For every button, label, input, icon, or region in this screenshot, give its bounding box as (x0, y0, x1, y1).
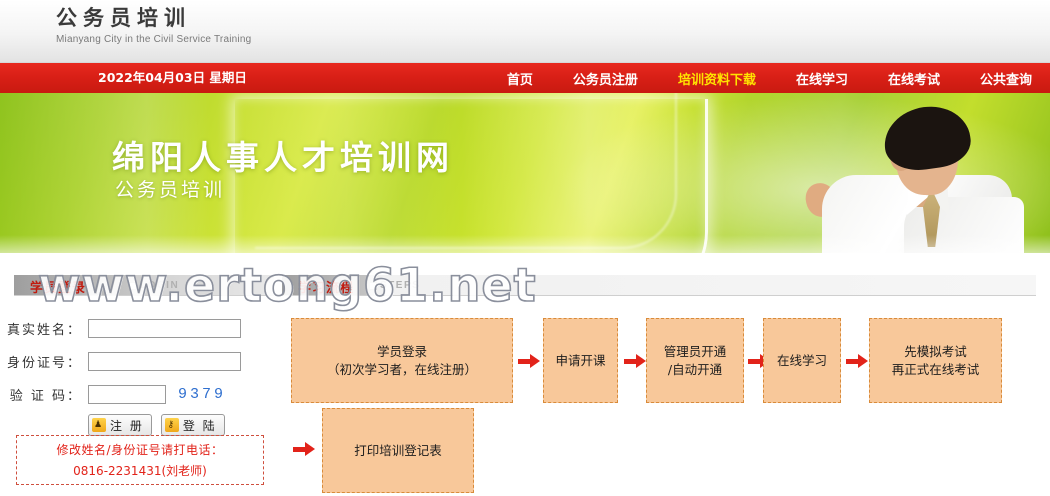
banner-bottom-fade (0, 235, 1050, 253)
steps-section-title: 学习流程 (298, 277, 354, 296)
arrow-icon (624, 354, 646, 368)
login-section-title: 学员登录 (30, 277, 86, 296)
banner-person-photo (772, 93, 1032, 253)
arrow-icon (518, 354, 540, 368)
steps-section-title-en: STEPS (380, 280, 420, 291)
nav-item-home[interactable]: 首页 (507, 69, 533, 88)
flow-box-print-form[interactable]: 打印培训登记表 (322, 408, 474, 493)
main-navigation: 2022年04月03日 星期日 首页 公务员注册 培训资料下载 在线学习 在线考… (0, 63, 1050, 93)
hero-banner: 绵阳人事人才培训网 公务员培训 (0, 93, 1050, 253)
flow-box-line: （初次学习者，在线注册） (327, 361, 477, 379)
flow-box-line: 申请开课 (555, 352, 605, 370)
flow-box-line: 在线学习 (777, 352, 827, 370)
site-title-cn: 公务员培训 (56, 5, 251, 31)
flow-box-student-login[interactable]: 学员登录 （初次学习者，在线注册） (291, 318, 513, 403)
nav-item-public-query[interactable]: 公共查询 (980, 69, 1032, 88)
nav-item-online-study[interactable]: 在线学习 (796, 69, 848, 88)
banner-title: 绵阳人事人才培训网 (112, 131, 454, 179)
login-section-title-en: LOGIN (140, 280, 179, 291)
flow-box-line: 再正式在线考试 (892, 361, 980, 379)
arrow-icon (846, 354, 868, 368)
flow-box-exam[interactable]: 先模拟考试 再正式在线考试 (869, 318, 1002, 403)
steps-bullet-icon (369, 282, 377, 290)
flow-box-line: 先模拟考试 (904, 343, 967, 361)
arrow-icon (293, 442, 315, 456)
nav-item-downloads[interactable]: 培训资料下载 (678, 69, 756, 88)
site-header: 公务员培训 Mianyang City in the Civil Service… (0, 0, 1050, 63)
section-header-bars: 学员登录 LOGIN 学习流程 STEPS (0, 275, 1050, 303)
flow-box-online-study[interactable]: 在线学习 (763, 318, 841, 403)
flow-box-line: 打印培训登记表 (354, 442, 442, 460)
nav-item-register[interactable]: 公务员注册 (573, 69, 638, 88)
brand-block: 公务员培训 Mianyang City in the Civil Service… (56, 5, 251, 45)
flow-box-line: 管理员开通 (664, 343, 727, 361)
flow-box-line: /自动开通 (668, 361, 722, 379)
nav-menu: 首页 公务员注册 培训资料下载 在线学习 在线考试 公共查询 (507, 63, 1032, 93)
nav-item-online-exam[interactable]: 在线考试 (888, 69, 940, 88)
flow-box-line: 学员登录 (377, 343, 427, 361)
banner-subtitle: 公务员培训 (115, 175, 225, 202)
flow-box-apply-course[interactable]: 申请开课 (543, 318, 618, 403)
study-steps-flowchart: 学员登录 （初次学习者，在线注册） 申请开课 管理员开通 /自动开通 在线学习 … (0, 318, 1050, 496)
current-date: 2022年04月03日 星期日 (98, 63, 247, 93)
site-title-en: Mianyang City in the Civil Service Train… (56, 34, 251, 45)
login-bullet-icon (129, 282, 137, 290)
flow-box-admin-activate[interactable]: 管理员开通 /自动开通 (646, 318, 744, 403)
